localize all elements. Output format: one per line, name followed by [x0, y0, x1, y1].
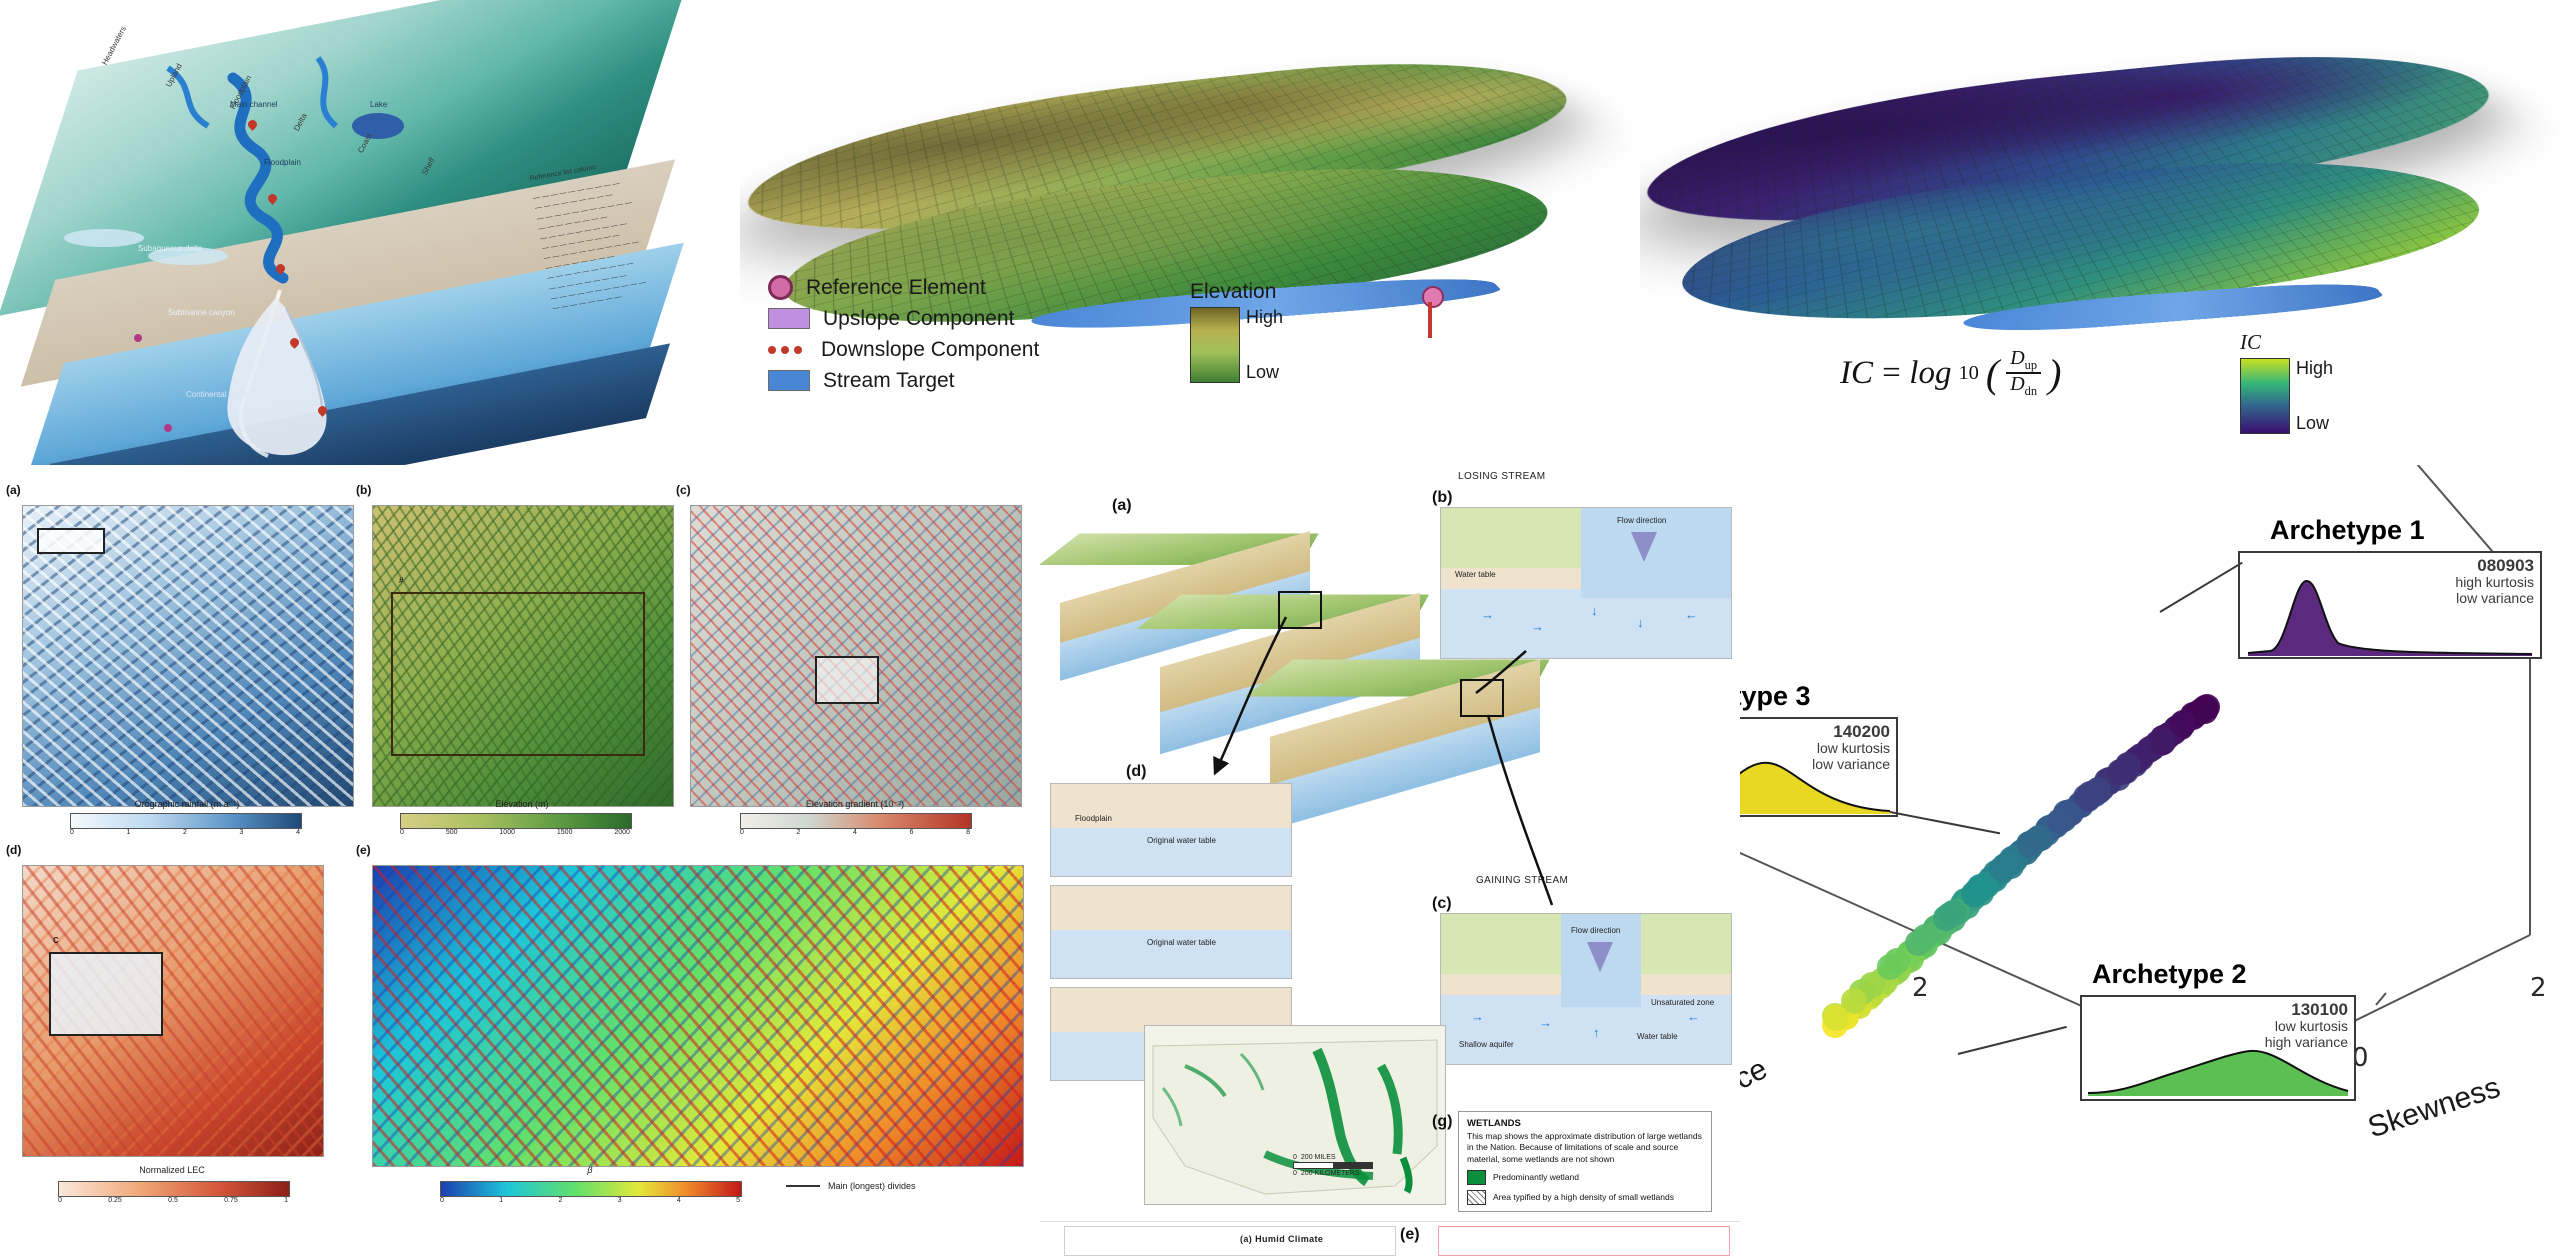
- colorbar-high-label-ic: High: [2296, 358, 2333, 379]
- panel-archetype-scatter: Archetypes of Structural Connectivity 1 …: [1740, 465, 2560, 1256]
- inset-box-b: [391, 592, 645, 756]
- panel-ic-dem: IC = log10 ( Dup Ddn ) IC High Low: [1640, 0, 2560, 465]
- ticks-elevation-map: 0500 10001500 2000: [400, 829, 630, 836]
- legend-label-stream-target: Stream Target: [823, 369, 955, 393]
- colorbar-beta: [440, 1181, 742, 1197]
- caption-beta: β: [520, 1165, 660, 1175]
- figure-collage: Headwaters Upland Floodplain Delta Coast…: [0, 0, 2560, 1256]
- formula-denominator: D: [2010, 373, 2024, 395]
- subpanel-label-e-b: (b): [1432, 489, 1452, 507]
- legend-row-stream-target: Stream Target: [768, 365, 1039, 396]
- inset-box-d: [49, 952, 163, 1036]
- caption-humid-climate: (a) Humid Climate: [1240, 1234, 1323, 1244]
- scale-zero-miles: 0: [1293, 1154, 1297, 1161]
- ticks-beta: 01 23 45: [440, 1197, 740, 1204]
- formula-numerator-sub: up: [2025, 358, 2037, 372]
- scatter-point: [1940, 900, 1966, 926]
- legend-row-upslope-component: Upslope Component: [768, 303, 1039, 334]
- caption-losing-stream: LOSING STREAM: [1458, 471, 1545, 482]
- scatter-point: [2170, 710, 2196, 736]
- map-orographic-rainfall: [22, 505, 354, 807]
- ticks-normalized-lec: 00.25 0.50.75 1: [58, 1197, 288, 1204]
- caption-normalized-lec: Normalized LEC: [22, 1165, 322, 1175]
- flow-direction-arrow-losing: [1631, 532, 1657, 562]
- formula-numerator: D: [2010, 347, 2024, 369]
- subpanel-label-e-a: (a): [1112, 497, 1132, 515]
- legend-main-divides: Main (longest) divides: [786, 1181, 916, 1191]
- ticks-elevation-gradient: 02 46 8: [740, 829, 970, 836]
- colorbar-elevation-map: [400, 813, 632, 829]
- ic-formula: IC = log10 ( Dup Ddn ): [1840, 348, 2061, 398]
- ticks-orographic-rainfall: 01 23 4: [70, 829, 300, 836]
- scatter-point: [1912, 924, 1938, 950]
- label-flow-direction-gaining: Flow direction: [1571, 926, 1620, 935]
- colorbar-orographic-rainfall: [70, 813, 302, 829]
- upslope-component-icon: [768, 308, 810, 329]
- panel-elevation-dem: Reference Element Upslope Component Down…: [740, 0, 1640, 465]
- archetype-2-distribution-curve: [2082, 997, 2354, 1099]
- subpanel-label-b: (b): [356, 483, 371, 497]
- downslope-path-line: [1428, 302, 1432, 338]
- wetlands-legend-label-high-density: Area typified by a high density of small…: [1493, 1192, 1674, 1203]
- label-water-table-gaining: Water table: [1637, 1032, 1678, 1041]
- colorbar-ramp-elevation: [1190, 307, 1240, 383]
- colorbar-title-ic: IC: [2240, 330, 2370, 355]
- diagram-floodplain-1: Floodplain Original water table: [1050, 783, 1292, 877]
- scale-label-miles: 200 MILES: [1301, 1154, 1336, 1161]
- colorbar-ramp-ic: [2240, 358, 2290, 434]
- wetlands-distribution-map: 0 200 MILES 0 200 KILOMETERS: [1144, 1025, 1446, 1205]
- block-diagram-body: Headwaters Upland Floodplain Delta Coast…: [18, 8, 728, 458]
- legend-row-downslope-component: Downslope Component: [768, 334, 1039, 365]
- feature-label-submarine-canyon: Submarine canyon: [168, 308, 235, 317]
- formula-lhs: IC: [1840, 355, 1873, 392]
- label-original-water-table-1: Original water table: [1147, 836, 1216, 845]
- inset-tag-d: C: [53, 936, 59, 945]
- subpanel-label-e-d: (d): [1126, 763, 1146, 781]
- label-floodplain-1: Floodplain: [1075, 814, 1112, 823]
- feature-label-continental-slope: Continental slope: [186, 390, 248, 399]
- subpanel-label-e-g: (g): [1432, 1113, 1452, 1131]
- inset-tag-b: #: [399, 576, 403, 585]
- reference-element-marker: [1422, 286, 1444, 308]
- scatter-point: [2149, 727, 2175, 753]
- map-elevation: #: [372, 505, 674, 807]
- archetype-2-label: Archetype 2: [2092, 959, 2247, 990]
- label-water-table-losing: Water table: [1455, 570, 1496, 579]
- map-normalized-lec: C: [22, 865, 324, 1157]
- caption-orographic-rainfall: Orographic rainfall (m a⁻¹): [22, 799, 352, 810]
- archetype-3-distribution-curve: [1740, 719, 1896, 815]
- colorbar-ic: IC High Low: [2240, 330, 2370, 434]
- archetype-1-distribution-curve: [2240, 553, 2540, 657]
- scatter-point: [2115, 753, 2141, 779]
- legend-row-reference-element: Reference Element: [768, 272, 1039, 303]
- formula-fraction: Dup Ddn: [2006, 348, 2041, 398]
- legend-label-upslope-component: Upslope Component: [823, 307, 1014, 331]
- high-density-wetland-swatch-icon: [1467, 1190, 1486, 1205]
- wetlands-legend-title: WETLANDS: [1467, 1118, 1703, 1131]
- bottom-box-left: [1064, 1226, 1396, 1256]
- caption-gaining-stream: GAINING STREAM: [1476, 875, 1568, 886]
- subpanel-label-e-e: (e): [1400, 1226, 1420, 1244]
- archetype-3-label: Archetype 3: [1740, 681, 1811, 712]
- label-unsaturated-zone: Unsaturated zone: [1651, 998, 1714, 1007]
- legend-label-downslope-component: Downslope Component: [821, 338, 1039, 362]
- caption-elevation-map: Elevation (m): [372, 799, 672, 809]
- feature-label-subaqueous-delta: Subaqueous delta: [138, 244, 203, 253]
- wetlands-legend-body: This map shows the approximate distribut…: [1467, 1131, 1703, 1165]
- panel-wetlands-groundwater: (a) LOSING STREAM (b) Flow direction Wat…: [1040, 465, 1740, 1256]
- subpanel-label-d: (d): [6, 843, 21, 857]
- label-shallow-aquifer: Shallow aquifer: [1459, 1040, 1514, 1049]
- archetype-1-callout: 080903 high kurtosis low variance: [2238, 551, 2542, 659]
- scatter-point: [2085, 777, 2111, 803]
- panel-terrain-metric-maps: (a) Orographic rainfall (m a⁻¹) 01 23 4 …: [0, 465, 1040, 1256]
- feature-label-main-channel: Main channel: [230, 100, 278, 109]
- panel-hillslope-block-diagram: Headwaters Upland Floodplain Delta Coast…: [0, 0, 740, 465]
- predominant-wetland-swatch-icon: [1467, 1170, 1486, 1185]
- wetlands-legend-row-high-density: Area typified by a high density of small…: [1467, 1190, 1703, 1205]
- formula-log-base: 10: [1958, 362, 1978, 385]
- subpanel-label-e-c: (c): [1432, 895, 1452, 913]
- formula-log: log: [1909, 355, 1951, 392]
- stream-target-icon: [768, 370, 810, 391]
- archetype-1-label: Archetype 1: [2270, 515, 2425, 546]
- legend-label-reference-element: Reference Element: [806, 276, 986, 300]
- map-elevation-gradient: [690, 505, 1022, 807]
- colorbar-title-elevation: Elevation: [1190, 280, 1320, 304]
- colorbar-low-label-elevation: Low: [1246, 362, 1283, 383]
- wetlands-legend-label-predominant: Predominantly wetland: [1493, 1172, 1579, 1183]
- scale-zero-km: 0: [1293, 1170, 1297, 1177]
- flow-direction-arrow-gaining: [1587, 942, 1613, 972]
- map-scale-bar: 0 200 MILES 0 200 KILOMETERS: [1293, 1154, 1373, 1177]
- zoom-box-losing: [1278, 591, 1322, 629]
- diagram-losing-stream: Flow direction Water table → → ↓ ↓ ←: [1440, 507, 1732, 659]
- subpanel-label-a: (a): [6, 483, 21, 497]
- archetype-2-callout: 130100 low kurtosis high variance: [2080, 995, 2356, 1101]
- inset-tag-a: [37, 528, 105, 554]
- divide-line-icon: [786, 1185, 820, 1187]
- downslope-component-icon: [768, 340, 808, 359]
- colorbar-low-label-ic: Low: [2296, 413, 2333, 434]
- subpanel-label-e: (e): [356, 843, 371, 857]
- dem-surface-ic: [1640, 0, 2560, 465]
- colorbar-high-label-elevation: High: [1246, 307, 1283, 328]
- colorbar-normalized-lec: [58, 1181, 290, 1197]
- feature-label-lake: Lake: [370, 100, 387, 109]
- bottom-box-right: [1438, 1226, 1730, 1256]
- inset-box-c: [815, 656, 879, 704]
- colorbar-elevation: Elevation High Low: [1190, 280, 1320, 383]
- subpanel-label-c: (c): [676, 483, 691, 497]
- reference-element-icon: [768, 275, 793, 300]
- wetlands-legend-row-predominant: Predominantly wetland: [1467, 1170, 1703, 1185]
- zoom-box-gaining: [1460, 679, 1504, 717]
- legend-elevation-panel: Reference Element Upslope Component Down…: [768, 272, 1039, 396]
- bottom-strip: (a) Humid Climate (e): [1040, 1221, 1740, 1256]
- label-flow-direction-losing: Flow direction: [1617, 516, 1666, 525]
- scatter-point: [2192, 698, 2218, 724]
- formula-equals: =: [1880, 355, 1902, 392]
- colorbar-elevation-gradient: [740, 813, 972, 829]
- wetlands-legend: WETLANDS This map shows the approximate …: [1458, 1111, 1712, 1212]
- scale-label-km: 200 KILOMETERS: [1301, 1170, 1360, 1177]
- formula-denominator-sub: dn: [2025, 384, 2037, 398]
- archetype-3-callout: 140200 low kurtosis low variance: [1740, 717, 1898, 817]
- diagram-floodplain-2: Original water table: [1050, 885, 1292, 979]
- feature-label-floodplain: Floodplain: [264, 158, 301, 167]
- caption-elevation-gradient: Elevation gradient (10⁻²): [690, 799, 1020, 810]
- legend-label-main-divides: Main (longest) divides: [828, 1181, 916, 1191]
- diagram-gaining-stream: Flow direction Unsaturated zone Water ta…: [1440, 913, 1732, 1065]
- label-original-water-table-2: Original water table: [1147, 938, 1216, 947]
- map-beta: [372, 865, 1024, 1167]
